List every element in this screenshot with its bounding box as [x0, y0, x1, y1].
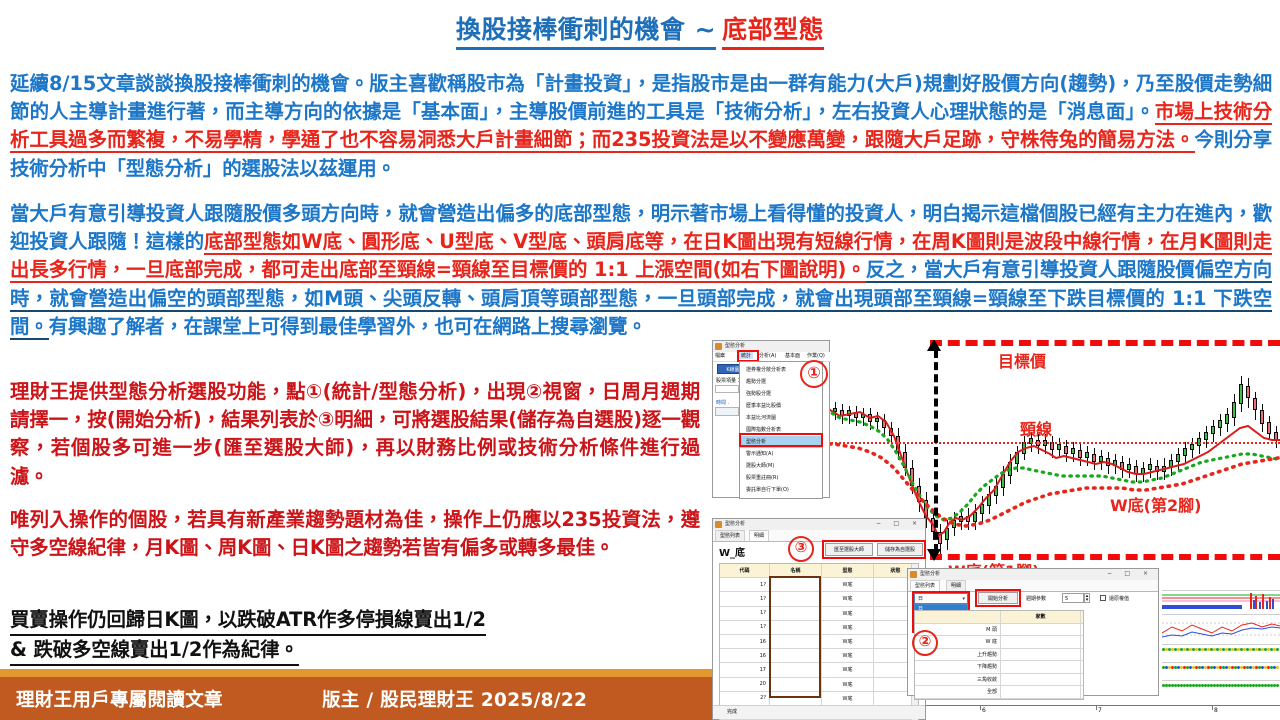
list-item[interactable]: W 底: [915, 636, 1083, 649]
slide-root: 換股接棒衝刺的機會 ~底部型態 延續8/15文章談談換股接棒衝刺的機會。版主喜歡…: [0, 0, 1280, 720]
oscillator-lines: [1162, 615, 1280, 643]
candle-body: [945, 528, 949, 540]
list-item[interactable]: M 頭: [915, 624, 1083, 637]
candle-body: [875, 418, 879, 422]
analysis-minimize-button[interactable]: −: [1107, 570, 1112, 577]
candle-body: [1064, 446, 1068, 454]
candle-body: [1148, 464, 1152, 470]
time-label: 時間 .: [716, 399, 729, 406]
detail-maximize-button[interactable]: □: [893, 520, 899, 527]
candle-body: [896, 436, 900, 452]
analysis-tab-pattern-list[interactable]: 型態列表: [910, 580, 940, 591]
list-item[interactable]: 上升趨勢: [915, 649, 1083, 662]
stock-count-field[interactable]: [715, 385, 739, 393]
table-cell: 1?: [720, 621, 770, 634]
step-marker-2: ②: [912, 630, 938, 656]
pattern-count-cell: [1001, 649, 1081, 661]
axis-tick-label: 8: [1214, 707, 1218, 714]
candle-body: [1127, 464, 1131, 470]
analysis-maximize-button[interactable]: □: [1124, 570, 1130, 577]
table-cell: W底: [822, 663, 874, 676]
candle-body: [959, 516, 963, 522]
paragraph-3: 理財王提供型態分析選股功能，點①(統計/型態分析)，出現②視窗，日周月週期請擇一…: [10, 378, 700, 491]
table-cell: W底: [822, 578, 874, 591]
table-cell: W底: [822, 692, 874, 705]
pattern-count-cell: [1001, 624, 1081, 636]
period-param-stepper[interactable]: ▴▾: [1084, 593, 1090, 603]
detail-col-code: 代碼: [720, 564, 770, 577]
axis-tick-label: 6: [982, 707, 986, 714]
table-cell: W底: [822, 592, 874, 605]
analysis-toolbar: 日 ▾ 日 周 月 開始分析 週期參數 5 ▴▾ 還原權值: [908, 592, 1158, 610]
range-measure-arrow: [934, 350, 938, 552]
candle-body: [938, 532, 942, 544]
analysis-grid-body: M 頭W 底上升趨勢下降趨勢三角收斂全部: [915, 624, 1083, 699]
candle-body: [833, 408, 837, 412]
paragraph-2-run4: 有興趣了解者，在課堂上可得到最佳學習外，也可在網路上搜尋瀏覽。: [49, 315, 647, 338]
analysis-window-title: 型態分析: [920, 570, 940, 577]
step-marker-3: ③: [788, 536, 814, 562]
detail-buttons-highlight-box: [822, 540, 926, 559]
menu-item-2[interactable]: 強勢股分選: [740, 388, 822, 400]
restore-price-label: 還原權值: [1109, 595, 1129, 602]
analysis-col-count: 家數: [1001, 611, 1081, 623]
candle-body: [980, 504, 984, 514]
menu-item-8[interactable]: 選股大師(M): [740, 460, 822, 472]
axis-tick: [1096, 706, 1097, 710]
candle-body: [1260, 410, 1264, 424]
menu-item-4[interactable]: 本益比河流圖: [740, 412, 822, 424]
detail-app-icon: [715, 521, 722, 528]
table-cell: 1?: [720, 592, 770, 605]
table-cell: W底: [822, 649, 874, 662]
candle-body: [1218, 420, 1222, 428]
start-analysis-highlight-box: [975, 589, 1021, 607]
range-arrow-head-up: [927, 340, 941, 351]
table-cell: 1?: [720, 607, 770, 620]
pattern-detail-window[interactable]: 型態分析 − □ × 型態列表 明細 W_底 匯至選股大師 儲存為自選股 代碼 …: [712, 518, 926, 720]
analysis-grid-header: 家數: [915, 611, 1083, 624]
indicator-panels: [1162, 590, 1280, 698]
candle-body: [917, 486, 921, 502]
candle-body: [840, 410, 844, 416]
target-price-line: [930, 340, 1280, 346]
paragraph-5-line1: 買賣操作仍回歸日K圖，以跌破ATR作多停損線賣出1/2: [10, 606, 486, 636]
table-cell: 16: [720, 649, 770, 662]
candle-body: [1204, 432, 1208, 440]
volume-panel: [1162, 590, 1280, 613]
candle-body: [987, 494, 991, 506]
candle-body: [1071, 448, 1075, 454]
analysis-results-grid[interactable]: 家數 M 頭W 底上升趨勢下降趨勢三角收斂全部: [914, 610, 1084, 700]
table-cell: 16: [720, 635, 770, 648]
candle-body: [1211, 426, 1215, 434]
step-marker-1: ①: [800, 360, 828, 388]
axis-tick: [1212, 706, 1213, 710]
candle-body: [952, 520, 956, 528]
pattern-count-cell: [1001, 636, 1081, 648]
candle-body: [1106, 458, 1110, 466]
target-price-label: 目標價: [998, 348, 1046, 372]
candle-body: [903, 452, 907, 468]
menu-window-title: 型態分析: [725, 342, 745, 349]
page-title: 換股接棒衝刺的機會 ~底部型態: [0, 16, 1280, 50]
candle-body: [1057, 444, 1061, 450]
candle-body: [966, 516, 970, 522]
candle-body: [1092, 454, 1096, 462]
analysis-col-blank: [915, 611, 1001, 623]
time-toolbar[interactable]: [715, 407, 739, 416]
pattern-count-cell: [1001, 661, 1081, 673]
paragraph-5-line2: & 跌破多空線賣出1/2作為紀律。: [10, 636, 299, 666]
paragraph-2: 當大戶有意引導投資人跟隨股價多頭方向時，就會營造出偏多的底部型態，明示著市場上看…: [10, 200, 1272, 341]
candle-body: [910, 468, 914, 486]
candle-body: [1225, 414, 1229, 424]
menu-item-9[interactable]: 股票重註冊(R): [740, 472, 822, 484]
restore-price-checkbox[interactable]: [1100, 595, 1106, 601]
table-cell: 2?: [720, 692, 770, 705]
candle-body: [1190, 444, 1194, 450]
menu-item-10[interactable]: 委託單自行下單(O): [740, 484, 822, 496]
candle-body: [973, 512, 977, 522]
candle-body: [1015, 452, 1019, 464]
candle-body: [1078, 450, 1082, 458]
candle-body: [1001, 474, 1005, 488]
detail-statusbar: 完成: [713, 705, 925, 719]
dot-indicator-3: [1162, 680, 1280, 697]
detail-minimize-button[interactable]: −: [876, 520, 881, 527]
app-icon: [715, 343, 722, 350]
detail-window-title: 型態分析: [725, 520, 745, 527]
candle-body: [1162, 466, 1166, 472]
candle-body: [1113, 460, 1117, 466]
detail-col-pattern: 型態: [822, 564, 874, 577]
analysis-app-icon: [910, 571, 917, 578]
analysis-close-button[interactable]: ×: [1143, 570, 1148, 577]
candle-body: [1232, 402, 1236, 418]
detail-status-text: 完成: [727, 708, 737, 715]
volume-bars: [1162, 591, 1280, 613]
list-item[interactable]: 全部: [915, 686, 1083, 699]
list-item[interactable]: 三角收斂: [915, 674, 1083, 687]
pattern-type-label: 下降趨勢: [915, 661, 1001, 673]
candle-body: [1267, 422, 1271, 434]
analysis-tab-detail[interactable]: 明細: [946, 580, 966, 591]
indicator-dot: [1276, 648, 1279, 651]
table-cell: 1?: [720, 578, 770, 591]
candle-body: [1141, 468, 1145, 474]
table-cell: W底: [822, 635, 874, 648]
dot-indicator-2: [1162, 662, 1280, 679]
pattern-analysis-dialog[interactable]: 型態分析 − □ × 型態列表 明細 日 ▾ 日 周 月: [907, 568, 1159, 696]
candle-body: [854, 412, 858, 418]
pattern-analysis-highlight-box: [739, 433, 823, 447]
axis-tick-label: 7: [1098, 707, 1102, 714]
table-cell: 20: [720, 678, 770, 691]
list-item[interactable]: 下降趨勢: [915, 661, 1083, 674]
w-bottom-2-label: W底(第2腳): [1110, 492, 1201, 516]
footer-left-text: 理財王用戶專屬閱讀文章: [16, 686, 223, 712]
candle-body: [1085, 452, 1089, 458]
candle-body: [1183, 448, 1187, 456]
candle-body: [1253, 398, 1257, 410]
candle-body: [889, 428, 893, 436]
indicator-dot: [1276, 684, 1279, 687]
page-title-blue: 換股接棒衝刺的機會 ~: [456, 16, 716, 50]
detail-close-button[interactable]: ×: [912, 520, 917, 527]
candle-body: [1134, 466, 1138, 474]
table-cell: W底: [822, 607, 874, 620]
detail-tab-detail[interactable]: 明細: [749, 530, 769, 541]
stock-count-label: 股票項量：: [716, 377, 741, 384]
menubar-item-2[interactable]: 分析(A): [759, 352, 776, 359]
candle-body: [1239, 384, 1243, 404]
dot-indicator-1: [1162, 644, 1280, 661]
table-cell: W底: [822, 678, 874, 691]
candle-body: [861, 414, 865, 418]
pattern-type-label: 全部: [915, 686, 1001, 698]
page-title-red: 底部型態: [722, 16, 824, 50]
paragraph-1-run1: 延續8/15文章談談換股接棒衝刺的機會。版主喜歡稱股市為「計畫投資」，是指股市是…: [10, 72, 1272, 123]
pattern-count-cell: [1001, 686, 1081, 698]
footer-right-text: 版主 / 股民理財王 2025/8/22: [322, 686, 587, 712]
embedded-screenshot: 頸線 目標價 W底(第1腳) W底(第2腳): [712, 340, 1280, 720]
pattern-type-label: 三角收斂: [915, 674, 1001, 686]
menu-item-3[interactable]: 歷季本益比股價: [740, 400, 822, 412]
oscillator-panel: [1162, 614, 1280, 643]
neckline-label: 頸線: [1020, 416, 1052, 440]
menubar-item-4[interactable]: 作業(Q): [807, 352, 825, 359]
range-arrow-head-down: [927, 549, 941, 561]
candle-body: [1155, 466, 1159, 472]
menubar-item-0[interactable]: 檔案: [715, 352, 725, 359]
candle-body: [868, 414, 872, 422]
axis-tick: [980, 706, 981, 710]
paragraph-5: 買賣操作仍回歸日K圖，以跌破ATR作多停損線賣出1/2 & 跌破多空線賣出1/2…: [10, 606, 700, 666]
pattern-count-cell: [1001, 674, 1081, 686]
candle-body: [994, 486, 998, 496]
detail-name-column-highlight: [769, 576, 821, 698]
candle-body: [1099, 456, 1103, 462]
menubar-item-3[interactable]: 基本面: [785, 352, 800, 359]
candle-body: [924, 500, 928, 518]
indicator-dot: [1276, 666, 1279, 669]
table-cell: 17: [720, 663, 770, 676]
trend-dots-red: [822, 444, 1278, 526]
candle-body: [1169, 460, 1173, 468]
candle-body: [882, 420, 886, 428]
period-param-label: 週期參數: [1026, 595, 1046, 602]
candle-body: [847, 410, 851, 416]
candle-body: [1120, 462, 1124, 470]
detail-pattern-name: W_底: [719, 544, 745, 559]
detail-tab-pattern-list[interactable]: 型態列表: [715, 530, 745, 541]
candle-body: [1274, 432, 1278, 440]
candle-body: [1176, 454, 1180, 462]
paragraph-4: 唯列入操作的個股，若具有新產業趨勢題材為佳，操作上仍應以235投資法，遵守多空線…: [10, 506, 700, 562]
candle-body: [1246, 386, 1250, 398]
table-cell: W底: [822, 621, 874, 634]
candle-body: [1008, 462, 1012, 476]
menu-item-7[interactable]: 警示通知(A): [740, 448, 822, 460]
period-param-input[interactable]: 5: [1062, 593, 1084, 603]
paragraph-1: 延續8/15文章談談換股接棒衝刺的機會。版主喜歡稱股市為「計畫投資」，是指股市是…: [10, 70, 1272, 183]
